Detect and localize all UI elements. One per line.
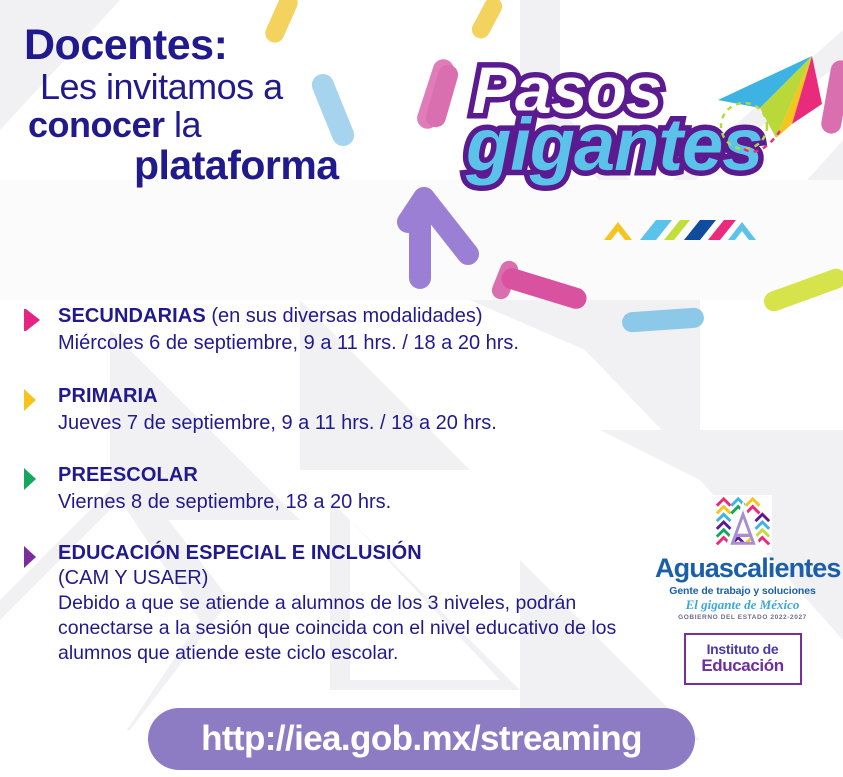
level-heading: EDUCACIÓN ESPECIAL E INCLUSIÓN xyxy=(58,542,660,565)
government-period: GOBIERNO DEL ESTADO 2022-2027 xyxy=(655,614,830,621)
level-heading: SECUNDARIAS (en sus diversas modalidades… xyxy=(58,305,660,328)
headline-line-2: Les invitamos a xyxy=(24,69,444,105)
level-name: EDUCACIÓN ESPECIAL E INCLUSIÓN xyxy=(58,542,422,564)
level-detail: Jueves 7 de septiembre, 9 a 11 hrs. / 18… xyxy=(58,411,660,437)
level-detail: Miércoles 6 de septiembre, 9 a 11 hrs. /… xyxy=(58,331,660,357)
purple-arrow-decoration xyxy=(390,178,498,296)
level-detail: Debido a que se atiende a alumnos de los… xyxy=(58,591,660,667)
headline-line-1: Docentes: xyxy=(24,24,444,67)
list-item: PRIMARIA Jueves 7 de septiembre, 9 a 11 … xyxy=(20,385,660,437)
level-detail: Viernes 8 de septiembre, 18 a 20 hrs. xyxy=(58,490,660,516)
level-name: PRIMARIA xyxy=(58,385,158,407)
paper-plane-icon xyxy=(700,52,826,156)
level-heading: PREESCOLAR xyxy=(58,464,660,487)
headline-line-3: conocer la xyxy=(24,107,444,143)
level-name: SECUNDARIAS xyxy=(58,305,206,327)
government-tagline: Gente de trabajo y soluciones xyxy=(655,585,830,597)
streaming-url-button[interactable]: http://iea.gob.mx/streaming xyxy=(148,708,695,770)
headline-block: Docentes: Les invitamos a conocer la pla… xyxy=(24,24,444,186)
government-name: Aguascalientes xyxy=(655,555,830,582)
streaming-url-text: http://iea.gob.mx/streaming xyxy=(201,719,642,759)
government-branding: Aguascalientes Gente de trabajo y soluci… xyxy=(655,495,830,685)
chevron-right-icon xyxy=(22,467,44,491)
chevron-right-icon xyxy=(22,308,44,332)
level-heading: PRIMARIA xyxy=(58,385,660,408)
level-name: PREESCOLAR xyxy=(58,464,198,486)
headline-line-4: plataforma xyxy=(24,145,444,186)
instituto-line-2: Educación xyxy=(690,657,796,675)
instituto-educacion-logo: Instituto de Educación xyxy=(684,633,802,685)
chevron-right-icon xyxy=(22,545,44,569)
chevron-color-bar xyxy=(596,216,756,242)
chevron-right-icon xyxy=(22,388,44,412)
schedule-list: SECUNDARIAS (en sus diversas modalidades… xyxy=(20,305,660,689)
headline-line-3-rest: la xyxy=(165,104,202,145)
government-slogan: El gigante de México xyxy=(655,598,830,612)
list-item: EDUCACIÓN ESPECIAL E INCLUSIÓN (CAM Y US… xyxy=(20,542,660,667)
list-item: SECUNDARIAS (en sus diversas modalidades… xyxy=(20,305,660,357)
level-subtitle: (CAM Y USAER) xyxy=(58,566,660,590)
aguascalientes-logo-icon xyxy=(714,495,772,553)
level-note: (en sus diversas modalidades) xyxy=(206,305,483,327)
headline-line-3-bold: conocer xyxy=(28,104,165,145)
list-item: PREESCOLAR Viernes 8 de septiembre, 18 a… xyxy=(20,464,660,516)
instituto-line-1: Instituto de xyxy=(690,642,796,657)
